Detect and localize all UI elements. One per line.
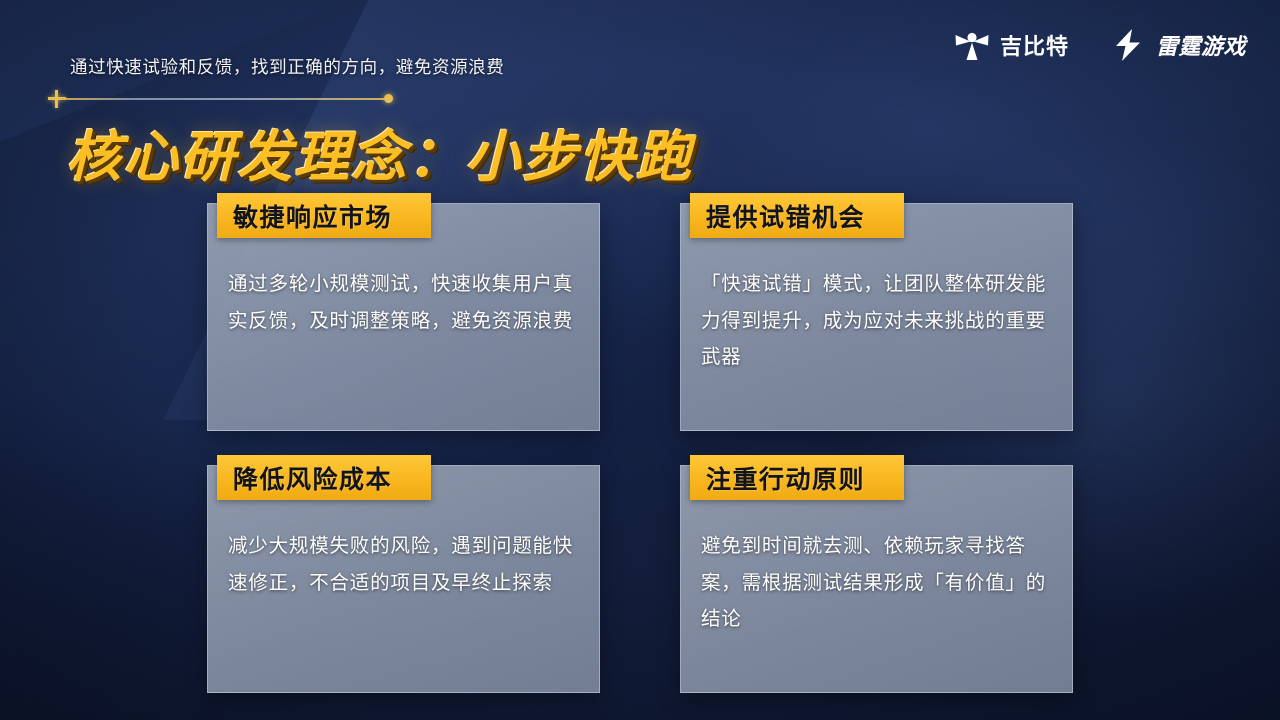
card-agile-market-response[interactable]: 敏捷响应市场 通过多轮小规模测试，快速收集用户真实反馈，及时调整策略，避免资源浪… xyxy=(207,203,600,431)
card-badge: 注重行动原则 xyxy=(690,455,904,500)
card-badge-label: 注重行动原则 xyxy=(706,460,865,496)
gbits-logo: 吉比特 xyxy=(953,26,1069,64)
card-badge-label: 提供试错机会 xyxy=(706,198,865,234)
card-badge: 敏捷响应市场 xyxy=(217,193,431,238)
card-reduce-risk-cost[interactable]: 降低风险成本 减少大规模失败的风险，遇到问题能快速修正，不合适的项目及早终止探索 xyxy=(207,465,600,693)
card-badge: 降低风险成本 xyxy=(217,455,431,500)
slide-root: 吉比特 雷霆游戏 通过快速试验和反馈，找到正确的方向，避免资源浪费 核心研发理念… xyxy=(0,0,1280,720)
gbits-logo-text: 吉比特 xyxy=(1000,29,1069,61)
card-badge: 提供试错机会 xyxy=(690,193,904,238)
divider-dot-icon xyxy=(384,94,393,103)
page-title: 核心研发理念：小步快跑 xyxy=(66,112,693,192)
thunder-games-logo-text: 雷霆游戏 xyxy=(1156,29,1246,61)
card-badge-label: 降低风险成本 xyxy=(233,460,392,496)
thunder-games-logo: 雷霆游戏 xyxy=(1109,26,1246,64)
angel-icon xyxy=(953,26,991,64)
divider-line xyxy=(61,98,384,100)
title-divider xyxy=(47,89,396,109)
card-badge-label: 敏捷响应市场 xyxy=(233,198,392,234)
card-action-principles[interactable]: 注重行动原则 避免到时间就去测、依赖玩家寻找答案，需根据测试结果形成「有价值」的… xyxy=(680,465,1073,693)
logo-bar: 吉比特 雷霆游戏 xyxy=(953,26,1246,64)
cards-grid: 敏捷响应市场 通过多轮小规模测试，快速收集用户真实反馈，及时调整策略，避免资源浪… xyxy=(207,203,1073,693)
lightning-bolt-icon xyxy=(1109,26,1147,64)
card-trial-error-opportunity[interactable]: 提供试错机会 「快速试错」模式，让团队整体研发能力得到提升，成为应对未来挑战的重… xyxy=(680,203,1073,431)
slide-subtitle: 通过快速试验和反馈，找到正确的方向，避免资源浪费 xyxy=(70,54,504,79)
